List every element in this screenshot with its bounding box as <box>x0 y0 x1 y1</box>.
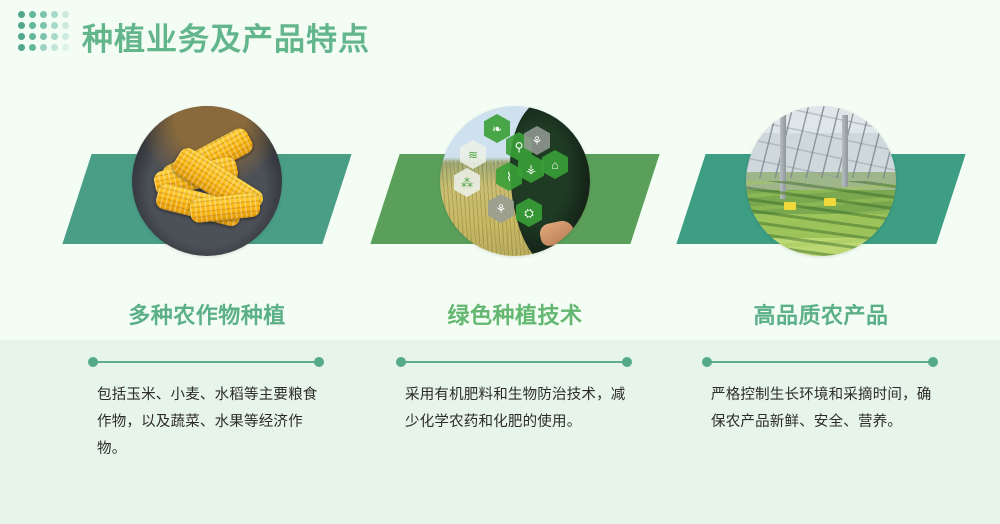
heading-connector <box>396 356 632 368</box>
dot-grid-icon <box>18 11 73 55</box>
smart-agriculture-photo: ≋ ❧ ⚲ ⌇ ⁂ ⚘ ⚶ ⌂ ⚘ ⛭ <box>440 106 590 256</box>
feature-heading-green-tech: 绿色种植技术 <box>360 298 670 330</box>
heading-connector <box>702 356 938 368</box>
feature-body-crops: 包括玉米、小麦、水稻等主要粮食作物，以及蔬菜、水果等经济作物。 <box>97 382 323 463</box>
page-title: 种植业务及产品特点 <box>82 14 370 59</box>
slide-header: 种植业务及产品特点 <box>0 0 1000 70</box>
feature-body-green-tech: 采用有机肥料和生物防治技术，减少化学农药和化肥的使用。 <box>405 382 631 436</box>
greenhouse-photo <box>746 106 896 256</box>
feature-column-green-tech: ≋ ❧ ⚲ ⌇ ⁂ ⚘ ⚶ ⌂ ⚘ ⛭ 绿色种植技术 采用有机肥料和 <box>360 88 670 524</box>
slide-root: 种植业务及产品特点 多种农作物种植 包括玉米、小麦、水稻等主要粮食作物 <box>0 0 1000 524</box>
feature-columns: 多种农作物种植 包括玉米、小麦、水稻等主要粮食作物，以及蔬菜、水果等经济作物。 … <box>0 88 1000 524</box>
heading-connector <box>88 356 324 368</box>
feature-heading-crops: 多种农作物种植 <box>52 298 362 330</box>
feature-heading-quality: 高品质农产品 <box>666 298 976 330</box>
feature-body-quality: 严格控制生长环境和采摘时间，确保农产品新鲜、安全、营养。 <box>711 382 937 436</box>
corn-on-plate-photo <box>132 106 282 256</box>
feature-column-quality: 高品质农产品 严格控制生长环境和采摘时间，确保农产品新鲜、安全、营养。 <box>666 88 976 524</box>
feature-column-crops: 多种农作物种植 包括玉米、小麦、水稻等主要粮食作物，以及蔬菜、水果等经济作物。 <box>52 88 362 524</box>
